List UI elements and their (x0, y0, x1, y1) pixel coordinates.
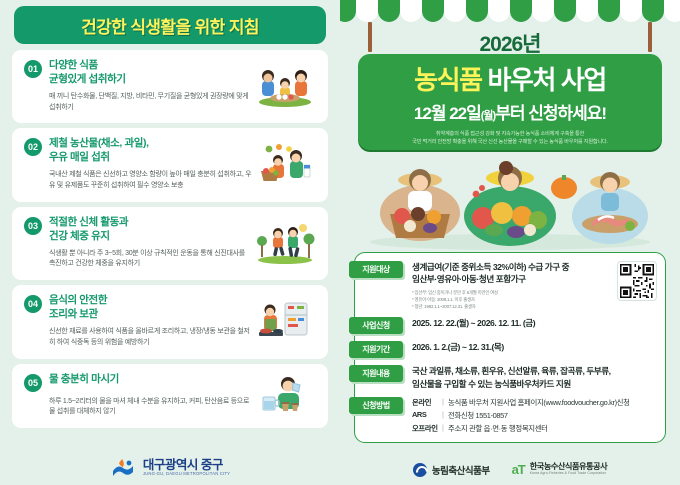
guideline-card-01: 01 다양한 식품 균형있게 섭취하기 매 끼니 탄수화물, 단백질, 지방, … (12, 50, 328, 123)
guideline-title-04-line2: 조리와 보관 (49, 308, 107, 322)
right-panel-voucher-program: 2026년 농식품 바우처 사업 12월 22일(월)부터 신청하세요! 취약계… (340, 0, 680, 485)
guideline-title-02: 제철 농산물(채소, 과일), 우유 매일 섭취 (49, 137, 149, 165)
guideline-desc-02: 국내산 제철 식품은 신선하고 영양소 함량이 높아 매일 충분히 섭취하고, … (49, 170, 252, 192)
awning-scallop (576, 0, 598, 22)
guideline-number-01: 01 (24, 60, 42, 78)
program-signboard: 농식품 바우처 사업 12월 22일(월)부터 신청하세요! 취약계층의 식품 … (358, 54, 662, 150)
info-row-support-period-tag: 지원기간 (349, 341, 403, 358)
government-emblem-icon (413, 463, 427, 477)
awning-scallop (422, 0, 444, 22)
info-row-application-period-value: 2025. 12. 22.(월) ~ 2026. 12. 11. (금) (403, 317, 657, 329)
man-drinking-water-icon (255, 373, 315, 417)
program-description: 취약계층의 식품 접근성 강화 및 지속가능한 농식품 소비체계 구축을 통한 … (412, 130, 608, 147)
guideline-card-03-body: 03 적절한 신체 활동과 건강 체중 유지 식생활 뿐 아니라 주 3~5회,… (22, 216, 252, 270)
awning-scallop (664, 0, 680, 22)
eligibility-note-1: * 임산부: 임신 중이거나 분만 후 6개월 미만인 여성 (412, 289, 613, 296)
guideline-title-03: 적절한 신체 활동과 건강 체중 유지 (49, 216, 128, 244)
guideline-card-02: 02 제철 농산물(채소, 과일), 우유 매일 섭취 국내산 제철 식품은 신… (12, 128, 328, 201)
awning-scallop (620, 0, 642, 22)
awning-scallop (510, 0, 532, 22)
guideline-title-04-line1: 음식의 안전한 (49, 294, 107, 308)
awning-decoration (340, 0, 680, 26)
guideline-card-01-body: 01 다양한 식품 균형있게 섭취하기 매 끼니 탄수화물, 단백질, 지방, … (22, 59, 252, 113)
support-content-line1: 국산 과일류, 채소류, 흰우유, 신선알류, 육류, 잡곡류, 두부류, (412, 365, 653, 377)
guideline-card-list: 01 다양한 식품 균형있게 섭취하기 매 끼니 탄수화물, 단백질, 지방, … (12, 50, 328, 428)
eligibility-line2: 임산부·영유아·아동·청년 포함가구 (412, 273, 613, 285)
guideline-title-01-line1: 다양한 식품 (49, 59, 126, 73)
method-online: 온라인 | 농식품 바우처 지원사업 홈페이지(www.foodvoucher.… (412, 397, 653, 408)
method-ars-label: ARS (412, 410, 442, 419)
family-eating-meal-icon (255, 64, 315, 108)
left-panel-header: 건강한 식생활을 위한 지침 (14, 6, 326, 44)
eligibility-note-3: * 청년: 1992.1.1~2007.12.31. 출생자 (412, 303, 613, 310)
at-logo-icon: aT (512, 462, 525, 477)
awning-scallop (340, 0, 356, 22)
support-period-value: 2026. 1. 2.(금) ~ 12. 31.(목) (412, 341, 653, 353)
guideline-art-02 (252, 137, 318, 191)
couple-jogging-icon (255, 221, 315, 265)
method-offline: 오프라인 | 주소지 관할 읍·면·동 행정복지센터 (412, 423, 653, 434)
guideline-card-05-head: 05 물 충분히 마시기 (24, 373, 252, 392)
info-row-application-period-tag: 사업신청 (349, 317, 403, 334)
info-row-application-method-value: 온라인 | 농식품 바우처 지원사업 홈페이지(www.foodvoucher.… (403, 397, 657, 434)
awning-scallop (598, 0, 620, 22)
guideline-art-04 (252, 294, 318, 348)
at-logo-text: 한국농수산식품유통공사 Korea Agro-Fisheries & Food … (530, 463, 607, 475)
awning-scallop (356, 0, 378, 22)
guideline-card-02-head: 02 제철 농산물(채소, 과일), 우유 매일 섭취 (24, 137, 252, 165)
guideline-title-05: 물 충분히 마시기 (49, 373, 119, 387)
method-ars: ARS | 전화신청 1551-0857 (412, 410, 653, 421)
poster-root: 건강한 식생활을 위한 지침 01 다양한 식품 균형있게 섭취하기 매 끼니 … (0, 0, 680, 485)
guideline-title-02-line2: 우유 매일 섭취 (49, 151, 149, 165)
guideline-title-03-line2: 건강 체중 유지 (49, 230, 128, 244)
program-title-rest: 바우처 사업 (487, 65, 605, 95)
info-row-support-content-value: 국산 과일류, 채소류, 흰우유, 신선알류, 육류, 잡곡류, 두부류, 임산… (403, 365, 657, 390)
method-offline-label: 오프라인 (412, 423, 442, 434)
at-corporation-logo: aT 한국농수산식품유통공사 Korea Agro-Fisheries & Fo… (512, 462, 608, 477)
info-row-application-method: 신청방법 온라인 | 농식품 바우처 지원사업 홈페이지(www.foodvou… (361, 397, 657, 434)
eligibility-line1: 생계급여(기준 중위소득 32%이하) 수급 가구 중 (412, 261, 613, 273)
guideline-art-03 (252, 216, 318, 270)
program-subtitle-date: 12월 22일 (414, 104, 481, 123)
guideline-card-04-head: 04 음식의 안전한 조리와 보관 (24, 294, 252, 322)
program-title-highlight: 농식품 (414, 65, 482, 95)
method-ars-value[interactable]: 전화신청 1551-0857 (448, 410, 653, 421)
info-row-support-content-tag: 지원내용 (349, 365, 403, 382)
guideline-card-03-head: 03 적절한 신체 활동과 건강 체중 유지 (24, 216, 252, 244)
program-subtitle: 12월 22일(월)부터 신청하세요! (414, 99, 606, 124)
guideline-card-04-body: 04 음식의 안전한 조리와 보관 신선한 재료를 사용하여 식품을 올바르게 … (22, 294, 252, 348)
mafra-logo: 농림축산식품부 (413, 463, 490, 477)
guideline-art-01 (252, 59, 318, 113)
awning-scallop (488, 0, 510, 22)
awning-scallop (466, 0, 488, 22)
guideline-desc-05: 하루 1.5~2리터의 물을 마셔 체내 수분을 유지하고, 커피, 탄산음료 … (49, 397, 252, 419)
guideline-number-04: 04 (24, 295, 42, 313)
daegu-emblem-icon (110, 457, 136, 479)
awning-scallop (532, 0, 554, 22)
info-row-eligibility-value: 생계급여(기준 중위소득 32%이하) 수급 가구 중 임산부·영유아·아동·청… (403, 261, 617, 310)
program-description-line1: 취약계층의 식품 접근성 강화 및 지속가능한 농식품 소비체계 구축을 통한 (412, 130, 608, 138)
application-qr-code[interactable] (617, 261, 657, 301)
guideline-card-05: 05 물 충분히 마시기 하루 1.5~2리터의 물을 마셔 체내 수분을 유지… (12, 364, 328, 429)
info-row-application-method-tag: 신청방법 (349, 397, 403, 414)
program-info-table: 지원대상 생계급여(기준 중위소득 32%이하) 수급 가구 중 임산부·영유아… (354, 252, 666, 443)
daegu-name-en: JUNG-GU, DAEGU METROPOLITAN CITY (143, 472, 230, 476)
guideline-card-02-body: 02 제철 농산물(채소, 과일), 우유 매일 섭취 국내산 제철 식품은 신… (22, 137, 252, 191)
awning-scallop (400, 0, 422, 22)
program-description-line2: 국민 먹거리 안전망 확충을 위해 국산 신선 농산물을 구매할 수 있는 농식… (412, 138, 608, 146)
daegu-junggu-logo: 대구광역시 중구 JUNG-GU, DAEGU METROPOLITAN CIT… (0, 457, 340, 479)
guideline-desc-03: 식생활 뿐 아니라 주 3~5회, 30분 이상 규칙적인 운동을 통해 신진대… (49, 249, 252, 271)
program-subtitle-weekday: (월) (481, 110, 495, 122)
info-row-support-period: 지원기간 2026. 1. 2.(금) ~ 12. 31.(목) (361, 341, 657, 358)
left-panel-title: 건강한 식생활을 위한 지침 (81, 13, 259, 38)
sponsor-logos: 농림축산식품부 aT 한국농수산식품유통공사 Korea Agro-Fisher… (340, 462, 680, 477)
awning-scallop (444, 0, 466, 22)
info-row-support-period-value: 2026. 1. 2.(금) ~ 12. 31.(목) (403, 341, 657, 353)
awning-scallop (642, 0, 664, 22)
guideline-card-04: 04 음식의 안전한 조리와 보관 신선한 재료를 사용하여 식품을 올바르게 … (12, 285, 328, 358)
mafra-name: 농림축산식품부 (432, 463, 490, 477)
application-period-value: 2025. 12. 22.(월) ~ 2026. 12. 11. (금) (412, 317, 653, 329)
guideline-title-02-line1: 제철 농산물(채소, 과일), (49, 137, 149, 151)
program-subtitle-suffix: 부터 신청하세요! (495, 104, 606, 123)
info-row-eligibility-tag: 지원대상 (349, 261, 403, 278)
guideline-number-05: 05 (24, 374, 42, 392)
daegu-logo-text: 대구광역시 중구 JUNG-GU, DAEGU METROPOLITAN CIT… (143, 459, 230, 477)
guideline-desc-01: 매 끼니 탄수화물, 단백질, 지방, 비타민, 무기질을 균형있게 권장량에 … (49, 92, 252, 114)
mother-child-produce-basket-icon (255, 143, 315, 187)
info-row-eligibility: 지원대상 생계급여(기준 중위소득 32%이하) 수급 가구 중 임산부·영유아… (361, 261, 657, 310)
guideline-title-01-line2: 균형있게 섭취하기 (49, 73, 126, 87)
awning-scallop (554, 0, 576, 22)
support-content-line2: 임산물을 구입할 수 있는 농식품바우처카드 지원 (412, 378, 653, 390)
guideline-card-05-body: 05 물 충분히 마시기 하루 1.5~2리터의 물을 마셔 체내 수분을 유지… (22, 373, 252, 419)
guideline-number-03: 03 (24, 217, 42, 235)
guideline-art-05 (252, 373, 318, 419)
eligibility-notes: * 임산부: 임신 중이거나 분만 후 6개월 미만인 여성 * 영유아·아동:… (412, 289, 613, 310)
awning-scallop (378, 0, 400, 22)
guideline-card-03: 03 적절한 신체 활동과 건강 체중 유지 식생활 뿐 아니라 주 3~5회,… (12, 207, 328, 280)
woman-cooking-refrigerator-icon (255, 299, 315, 343)
info-row-application-period: 사업신청 2025. 12. 22.(월) ~ 2026. 12. 11. (금… (361, 317, 657, 334)
program-title: 농식품 바우처 사업 (414, 60, 606, 97)
method-online-label: 온라인 (412, 397, 442, 408)
guideline-number-02: 02 (24, 138, 42, 156)
guideline-card-01-head: 01 다양한 식품 균형있게 섭취하기 (24, 59, 252, 87)
method-online-value[interactable]: 농식품 바우처 지원사업 홈페이지(www.foodvoucher.go.kr)… (448, 397, 653, 408)
info-row-support-content: 지원내용 국산 과일류, 채소류, 흰우유, 신선알류, 육류, 잡곡류, 두부… (361, 365, 657, 390)
three-farmers-with-produce-and-meat-icon (358, 158, 662, 250)
guideline-title-04: 음식의 안전한 조리와 보관 (49, 294, 107, 322)
guideline-desc-04: 신선한 재료를 사용하여 식품을 올바르게 조리하고, 냉장/냉동 보관을 철저… (49, 327, 252, 349)
at-name-en: Korea Agro-Fisheries & Food Trade Corpor… (530, 472, 607, 476)
guideline-title-05-line1: 물 충분히 마시기 (49, 373, 119, 387)
left-panel-dietary-guidelines: 건강한 식생활을 위한 지침 01 다양한 식품 균형있게 섭취하기 매 끼니 … (0, 0, 340, 485)
eligibility-note-2: * 영유아·아동: 2008.1.1. 이후 출생자 (412, 296, 613, 303)
guideline-title-03-line1: 적절한 신체 활동과 (49, 216, 128, 230)
method-offline-value: 주소지 관할 읍·면·동 행정복지센터 (448, 423, 653, 434)
guideline-title-01: 다양한 식품 균형있게 섭취하기 (49, 59, 126, 87)
